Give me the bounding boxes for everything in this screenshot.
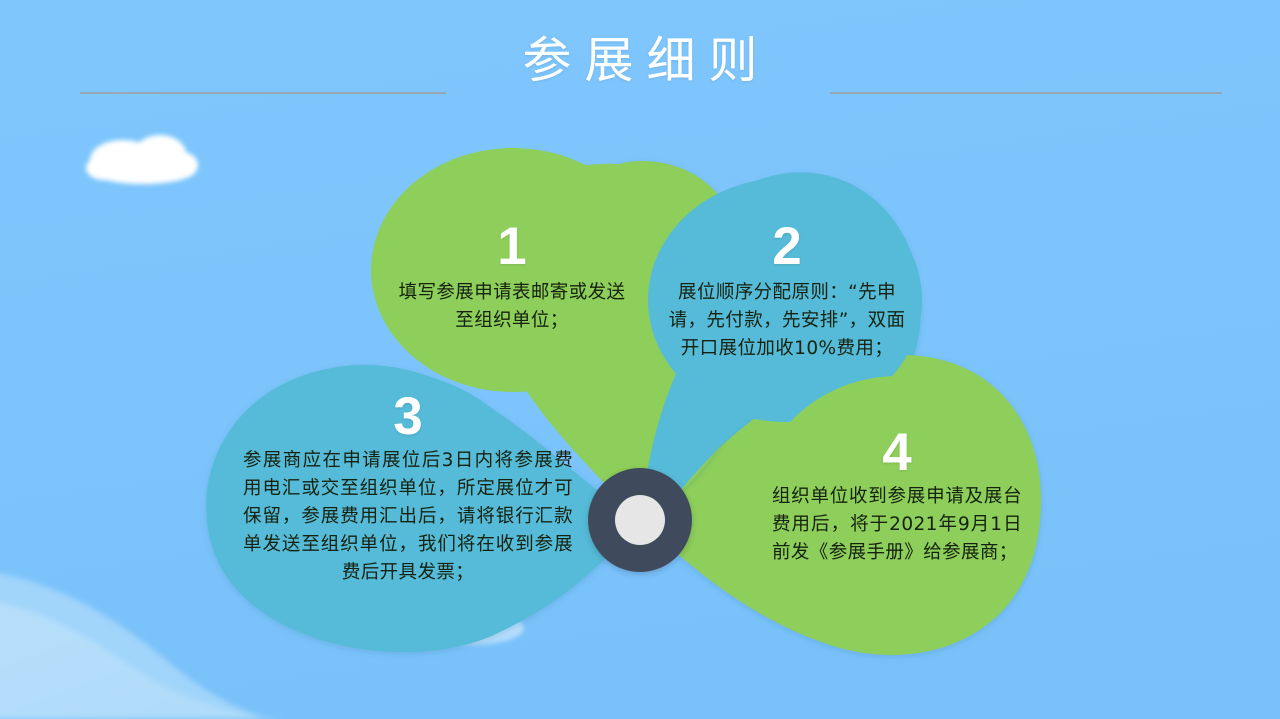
- petal-number-1: 1: [392, 220, 632, 273]
- petal-number-2: 2: [662, 220, 912, 273]
- slide-canvas: 参展细则 1 填写参展申请表邮寄或发送至组织单: [0, 0, 1280, 719]
- petal-content-3[interactable]: 3 参展商应在申请展位后3日内将参展费用电汇或交至组织单位，所定展位才可保留，参…: [243, 390, 573, 588]
- petal-diagram: [0, 0, 1280, 719]
- petal-text-3: 参展商应在申请展位后3日内将参展费用电汇或交至组织单位，所定展位才可保留，参展费…: [243, 447, 573, 588]
- center-hub-dot[interactable]: [615, 495, 665, 545]
- petal-number-3: 3: [243, 390, 573, 443]
- petal-text-1: 填写参展申请表邮寄或发送至组织单位；: [392, 279, 632, 335]
- petal-content-4[interactable]: 4 组织单位收到参展申请及展台费用后，将于2021年9月1日前发《参展手册》给参…: [772, 426, 1022, 567]
- petal-text-2: 展位顺序分配原则：“先申请，先付款，先安排”，双面开口展位加收10%费用；: [662, 279, 912, 363]
- petal-text-4: 组织单位收到参展申请及展台费用后，将于2021年9月1日前发《参展手册》给参展商…: [772, 483, 1022, 567]
- petal-content-2[interactable]: 2 展位顺序分配原则：“先申请，先付款，先安排”，双面开口展位加收10%费用；: [662, 220, 912, 363]
- petal-content-1[interactable]: 1 填写参展申请表邮寄或发送至组织单位；: [392, 220, 632, 335]
- petal-number-4: 4: [772, 426, 1022, 479]
